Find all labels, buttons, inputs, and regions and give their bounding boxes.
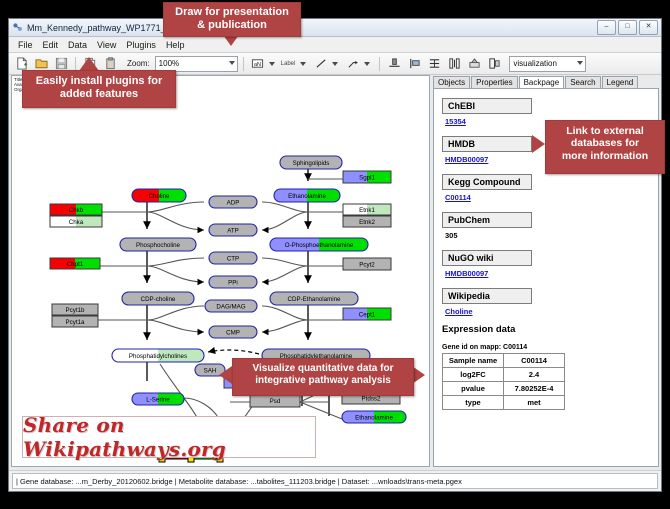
node-label: PPi [228, 279, 238, 286]
line-button[interactable] [312, 55, 330, 73]
label-button[interactable]: Label [281, 61, 296, 67]
callout-link-line3: more information [546, 150, 664, 162]
node-label: ATP [227, 227, 239, 234]
callout-link: Link to external databases for more info… [545, 120, 665, 174]
common-width-button[interactable] [445, 55, 463, 73]
gene-node-pcyt1b[interactable]: Pcyt1b [52, 304, 98, 315]
line-chevron-down-icon[interactable] [332, 62, 338, 66]
node-label: Ethanolamine [288, 193, 326, 200]
align-top-button[interactable] [385, 55, 403, 73]
db-value-pubchem: 305 [445, 231, 658, 240]
callout-draw-line1: Draw for presentation [164, 6, 300, 19]
share-banner: Share on Wikipathways.org [22, 416, 316, 458]
table-row: log2FC 2.4 [443, 368, 565, 382]
align-left-button[interactable] [405, 55, 423, 73]
table-row: Sample name C00114 [443, 354, 565, 368]
menu-item-file[interactable]: File [13, 40, 38, 50]
metabolite-node-l-serine-left[interactable]: L-Serine [132, 393, 184, 405]
expression-table: Sample name C00114 log2FC 2.4 pvalue 7.8… [442, 353, 565, 410]
node-label: Sgpl1 [359, 174, 375, 181]
pathvisio-app-icon [12, 22, 23, 33]
node-label: O-Phosphoethanolamine [285, 242, 354, 249]
bring-to-front-button[interactable] [465, 55, 483, 73]
cell-value: 7.80252E-4 [504, 382, 565, 396]
visualization-chevron-down-icon [577, 61, 583, 65]
callout-visualize: Visualize quantitative data for integrat… [232, 358, 414, 396]
metabolite-node-atp[interactable]: ATP [209, 224, 257, 236]
metabolite-node-choline-top[interactable]: Choline [132, 189, 186, 202]
menu-item-help[interactable]: Help [161, 40, 190, 50]
cell-value: met [504, 396, 565, 410]
node-label: Etnk1 [359, 207, 375, 214]
metabolite-node-ethanolamine-right[interactable]: Ethanolamine [342, 411, 406, 423]
node-label: Ptdss2 [362, 395, 381, 402]
menu-item-plugins[interactable]: Plugins [121, 40, 161, 50]
callout-plugins: Easily install plugins for added feature… [22, 70, 176, 108]
callout-plugins-line2: added features [23, 88, 175, 101]
node-label: SAH [204, 367, 217, 374]
metabolite-node-phosphocholine[interactable]: Phosphocholine [120, 238, 196, 251]
gene-node-etnk2[interactable]: Etnk2 [343, 216, 391, 227]
stack-vertical-button[interactable] [425, 55, 443, 73]
visualization-combo[interactable]: visualization [509, 56, 586, 72]
callout-visualize-line2: integrative pathway analysis [233, 375, 413, 387]
gene-node-cept1[interactable]: Cept1 [343, 308, 391, 320]
chevron-down-icon [229, 61, 235, 65]
node-label: Choline [149, 193, 171, 200]
pathway-canvas[interactable]: Title: Availa Organi [11, 75, 430, 467]
tab-properties[interactable]: Properties [471, 76, 517, 88]
node-label: Pcyt2 [359, 261, 375, 268]
label-chevron-down-icon[interactable] [300, 62, 306, 66]
maximize-button[interactable]: □ [618, 20, 637, 35]
window-controls: – □ ✕ [597, 20, 658, 35]
node-label: Psd [270, 398, 281, 405]
node-label: Sphingolipids [293, 160, 330, 167]
metabolite-node-ctp[interactable]: CTP [209, 252, 257, 264]
db-header-pubchem: PubChem [442, 212, 532, 228]
toolbar-separator-2 [243, 57, 244, 71]
metabolite-node-adp[interactable]: ADP [209, 196, 257, 208]
gene-node-chpt1-left[interactable]: Chpt1 [50, 258, 100, 269]
db-header-chebi: ChEBI [442, 98, 532, 114]
cell-label: log2FC [443, 368, 504, 382]
menu-item-edit[interactable]: Edit [38, 40, 64, 50]
node-label: Phosphocholine [136, 242, 181, 249]
gene-node-pcyt1a[interactable]: Pcyt1a [52, 316, 98, 327]
node-label: Phosphatidylcholines [129, 353, 187, 360]
close-button[interactable]: ✕ [639, 20, 658, 35]
metabolite-node-phosphatidylcholine[interactable]: Phosphatidylcholines [112, 349, 204, 362]
gene-node-pcyt2[interactable]: Pcyt2 [343, 258, 391, 270]
toolbar-separator [75, 57, 76, 71]
metabolite-node-cdp-choline[interactable]: CDP-choline [122, 292, 194, 305]
node-label: L-Serine [146, 396, 170, 403]
share-text: Share on Wikipathways.org [23, 413, 315, 461]
node-label: CTP [227, 255, 239, 262]
table-row: type met [443, 396, 565, 410]
send-to-back-button[interactable] [485, 55, 503, 73]
node-label: CMP [226, 329, 240, 336]
node-label: Pcyt1a [66, 319, 85, 326]
tab-objects[interactable]: Objects [433, 76, 470, 88]
node-label: Chka [69, 219, 84, 226]
db-link-wikipedia[interactable]: Choline [445, 307, 658, 316]
visualization-value: visualization [513, 59, 557, 68]
menu-item-view[interactable]: View [92, 40, 121, 50]
tab-legend[interactable]: Legend [602, 76, 639, 88]
metabolite-node-o-phosphoethanolamine[interactable]: O-Phosphoethanolamine [270, 238, 368, 251]
db-header-hmdb: HMDB [442, 136, 532, 152]
datanode-chevron-down-icon[interactable] [269, 62, 275, 66]
node-label: DAG/MAG [216, 303, 245, 310]
gene-id-line: Gene id on mapp: C00114 [442, 344, 658, 351]
tab-search[interactable]: Search [565, 76, 600, 88]
menu-item-data[interactable]: Data [63, 40, 92, 50]
metabolite-node-cdp-ethanolamine[interactable]: CDP-Ethanolamine [270, 292, 358, 305]
minimize-button[interactable]: – [597, 20, 616, 35]
side-tabs: Objects Properties Backpage Search Legen… [433, 75, 659, 88]
title-bar: Mm_Kennedy_pathway_WP1771_45176.gpml – □… [9, 19, 661, 37]
menu-bar: File Edit Data View Plugins Help [9, 37, 661, 53]
node-label: ADP [227, 199, 240, 206]
cell-label: type [443, 396, 504, 410]
svg-text:aN: aN [254, 62, 261, 68]
cell-label: pvalue [443, 382, 504, 396]
cell-value: 2.4 [504, 368, 565, 382]
db-header-wikipedia: Wikipedia [442, 288, 532, 304]
expression-data-title: Expression data [442, 324, 658, 335]
callout-visualize-line1: Visualize quantitative data for [233, 363, 413, 375]
node-label: Etnk2 [359, 219, 375, 226]
metabolite-node-ethanolamine-top[interactable]: Ethanolamine [274, 189, 340, 202]
metabolite-node-ppi[interactable]: PPi [209, 276, 257, 288]
interaction-arrow-button[interactable] [344, 55, 362, 73]
node-label: Chpt1 [67, 261, 84, 268]
db-link-nugo-wiki[interactable]: HMDB00097 [445, 269, 658, 278]
node-label: CDP-Ethanolamine [288, 296, 342, 303]
zoom-label: Zoom: [127, 59, 150, 68]
callout-link-line2: databases for [546, 137, 664, 149]
metabolite-node-dagmag[interactable]: DAG/MAG [205, 300, 257, 312]
cell-label: Sample name [443, 354, 504, 368]
node-label: Pcyt1b [66, 307, 85, 314]
table-row: pvalue 7.80252E-4 [443, 382, 565, 396]
callout-draw: Draw for presentation & publication [163, 2, 301, 37]
pathway-graph: SphingolipidsCholineEthanolamineADPATPPh… [12, 76, 430, 467]
callout-link-line1: Link to external [546, 125, 664, 137]
datanode-button[interactable]: aN [249, 55, 267, 73]
gene-node-sgpl1[interactable]: Sgpl1 [343, 171, 391, 183]
db-link-kegg-compound[interactable]: C00114 [445, 193, 658, 202]
node-label: Ethanolamine [355, 414, 393, 421]
gene-node-chkb[interactable]: Chkb [50, 204, 102, 215]
metabolite-node-cmp[interactable]: CMP [209, 326, 257, 338]
cell-value: C00114 [504, 354, 565, 368]
callout-plugins-pointer-icon [79, 57, 99, 71]
metabolite-node-sphingolipids[interactable]: Sphingolipids [280, 156, 342, 169]
db-header-kegg-compound: Kegg Compound [442, 174, 532, 190]
node-label: CDP-choline [141, 296, 176, 303]
status-bar: | Gene database: ...m_Derby_20120602.bri… [9, 470, 661, 491]
node-label: Cept1 [359, 311, 376, 318]
zoom-value: 100% [159, 59, 179, 68]
gene-node-etnk1[interactable]: Etnk1 [343, 204, 391, 215]
callout-visualize-pointer-icon [219, 366, 232, 384]
node-label: Chkb [69, 207, 84, 214]
db-header-nugo-wiki: NuGO wiki [442, 250, 532, 266]
callout-plugins-line1: Easily install plugins for [23, 75, 175, 88]
tab-backpage[interactable]: Backpage [519, 76, 565, 88]
toolbar-separator-3 [379, 57, 380, 71]
status-text: | Gene database: ...m_Derby_20120602.bri… [12, 473, 658, 489]
callout-draw-line2: & publication [164, 19, 300, 32]
gene-node-chka[interactable]: Chka [50, 216, 102, 227]
interaction-chevron-down-icon[interactable] [364, 62, 370, 66]
callout-link-pointer-icon [532, 135, 545, 153]
